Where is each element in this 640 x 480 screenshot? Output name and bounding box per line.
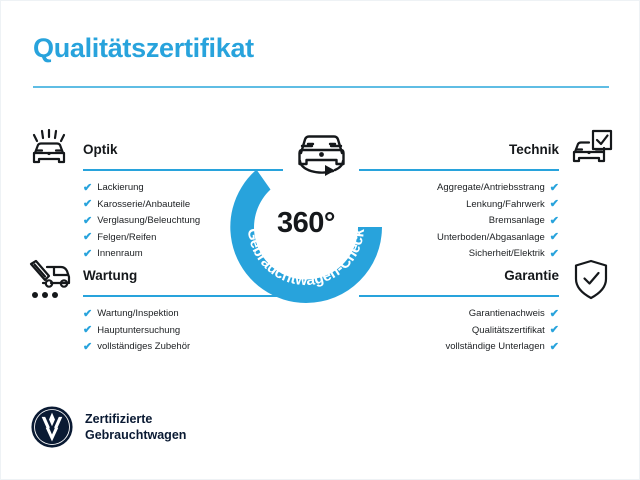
list-item: ✔Innenraum bbox=[83, 246, 283, 263]
check-icon: ✔ bbox=[550, 309, 559, 320]
wrench-car-icon bbox=[27, 259, 71, 306]
item-label: Lenkung/Fahrwerk bbox=[466, 197, 545, 214]
section-header: Technik bbox=[359, 141, 559, 171]
section-title: Optik bbox=[83, 141, 283, 159]
item-label: Wartung/Inspektion bbox=[97, 306, 179, 323]
list-item: ✔Lackierung bbox=[83, 180, 283, 197]
section-technik: Technik Aggregate/Antriebsstrang✔ Lenkun… bbox=[359, 141, 559, 263]
footer-line-1: Zertifizierte bbox=[85, 411, 186, 427]
check-icon: ✔ bbox=[550, 183, 559, 194]
check-icon: ✔ bbox=[550, 325, 559, 336]
item-label: vollständiges Zubehör bbox=[97, 339, 190, 356]
section-divider bbox=[83, 169, 283, 171]
section-optik: Optik ✔Lackierung ✔Karosserie/Anbauteile… bbox=[83, 141, 283, 263]
list-item: ✔Hauptuntersuchung bbox=[83, 323, 283, 340]
title-divider bbox=[33, 86, 609, 88]
list-item: ✔vollständiges Zubehör bbox=[83, 339, 283, 356]
check-icon: ✔ bbox=[83, 232, 92, 243]
section-divider bbox=[83, 295, 283, 297]
section-header: Optik bbox=[83, 141, 283, 171]
car-checkbox-icon bbox=[567, 129, 613, 174]
section-title: Technik bbox=[359, 141, 559, 159]
check-icon: ✔ bbox=[83, 325, 92, 336]
item-label: Sicherheit/Elektrik bbox=[469, 246, 545, 263]
certificate-page: Qualitätszertifikat bbox=[0, 0, 640, 480]
list-item: Bremsanlage✔ bbox=[359, 213, 559, 230]
list-item: Aggregate/Antriebsstrang✔ bbox=[359, 180, 559, 197]
item-label: Innenraum bbox=[97, 246, 142, 263]
item-label: Bremsanlage bbox=[489, 213, 545, 230]
check-icon: ✔ bbox=[83, 309, 92, 320]
list-item: Garantienachweis✔ bbox=[359, 306, 559, 323]
item-label: Felgen/Reifen bbox=[97, 230, 156, 247]
list-item: Sicherheit/Elektrik✔ bbox=[359, 246, 559, 263]
car-rotation-icon bbox=[289, 127, 354, 183]
list-item: vollständige Unterlagen✔ bbox=[359, 339, 559, 356]
check-icon: ✔ bbox=[550, 342, 559, 353]
item-label: Lackierung bbox=[97, 180, 143, 197]
list-item: ✔Felgen/Reifen bbox=[83, 230, 283, 247]
check-icon: ✔ bbox=[550, 232, 559, 243]
footer-brand-text: Zertifizierte Gebrauchtwagen bbox=[85, 411, 186, 443]
section-title: Wartung bbox=[83, 267, 283, 285]
check-icon: ✔ bbox=[83, 183, 92, 194]
check-icon: ✔ bbox=[83, 342, 92, 353]
section-header: Garantie bbox=[359, 267, 559, 297]
shield-check-icon bbox=[573, 259, 609, 306]
item-label: Unterboden/Abgasanlage bbox=[437, 230, 545, 247]
item-label: vollständige Unterlagen bbox=[445, 339, 544, 356]
section-wartung: Wartung ✔Wartung/Inspektion ✔Hauptunters… bbox=[83, 267, 283, 356]
page-title: Qualitätszertifikat bbox=[33, 33, 254, 64]
list-item: Lenkung/Fahrwerk✔ bbox=[359, 197, 559, 214]
section-item-list: ✔Wartung/Inspektion ✔Hauptuntersuchung ✔… bbox=[83, 306, 283, 356]
section-title: Garantie bbox=[359, 267, 559, 285]
check-icon: ✔ bbox=[550, 249, 559, 260]
check-icon: ✔ bbox=[550, 199, 559, 210]
check-icon: ✔ bbox=[83, 216, 92, 227]
item-label: Qualitätszertifikat bbox=[472, 323, 545, 340]
list-item: ✔Karosserie/Anbauteile bbox=[83, 197, 283, 214]
section-header: Wartung bbox=[83, 267, 283, 297]
item-label: Verglasung/Beleuchtung bbox=[97, 213, 200, 230]
item-label: Hauptuntersuchung bbox=[97, 323, 180, 340]
footer-line-2: Gebrauchtwagen bbox=[85, 427, 186, 443]
section-divider bbox=[359, 295, 559, 297]
check-icon: ✔ bbox=[83, 249, 92, 260]
item-label: Garantienachweis bbox=[469, 306, 545, 323]
list-item: ✔Wartung/Inspektion bbox=[83, 306, 283, 323]
vw-logo bbox=[31, 406, 73, 448]
check-icon: ✔ bbox=[550, 216, 559, 227]
section-divider bbox=[359, 169, 559, 171]
section-item-list: ✔Lackierung ✔Karosserie/Anbauteile ✔Verg… bbox=[83, 180, 283, 263]
car-shine-icon bbox=[27, 129, 71, 174]
footer-brand: Zertifizierte Gebrauchtwagen bbox=[31, 406, 186, 448]
list-item: Unterboden/Abgasanlage✔ bbox=[359, 230, 559, 247]
section-item-list: Aggregate/Antriebsstrang✔ Lenkung/Fahrwe… bbox=[359, 180, 559, 263]
list-item: Qualitätszertifikat✔ bbox=[359, 323, 559, 340]
section-garantie: Garantie Garantienachweis✔ Qualitätszert… bbox=[359, 267, 559, 356]
section-item-list: Garantienachweis✔ Qualitätszertifikat✔ v… bbox=[359, 306, 559, 356]
item-label: Karosserie/Anbauteile bbox=[97, 197, 190, 214]
check-icon: ✔ bbox=[83, 199, 92, 210]
list-item: ✔Verglasung/Beleuchtung bbox=[83, 213, 283, 230]
item-label: Aggregate/Antriebsstrang bbox=[437, 180, 545, 197]
